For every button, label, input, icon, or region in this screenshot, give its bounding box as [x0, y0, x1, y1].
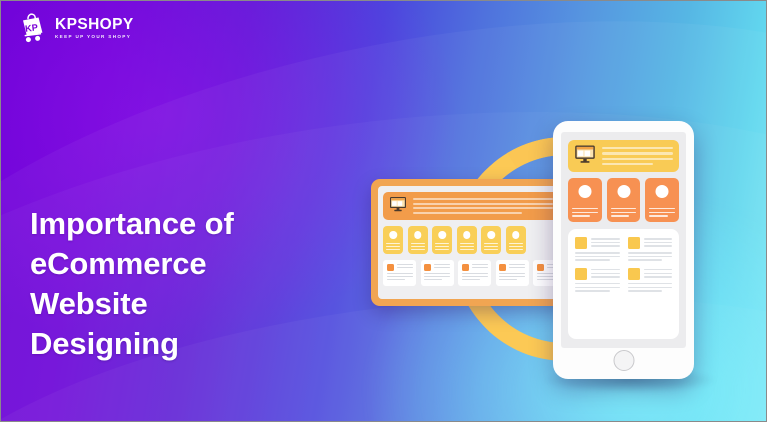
logo[interactable]: KP KPSHOPY KEEP UP YOUR SHOPY — [15, 10, 134, 46]
phone-tile[interactable] — [645, 178, 679, 222]
phone-product-item[interactable] — [628, 237, 673, 261]
desktop-tile[interactable] — [457, 226, 477, 254]
mobile-website-mockup — [553, 121, 694, 379]
svg-text:KP: KP — [25, 22, 39, 33]
tile-avatar — [578, 185, 591, 198]
desktop-tile[interactable] — [432, 226, 452, 254]
tile-avatar — [414, 231, 422, 239]
tile-avatar — [463, 231, 471, 239]
desktop-product-card[interactable] — [421, 260, 454, 286]
desktop-tile[interactable] — [383, 226, 403, 254]
page-title: Importance of eCommerce Website Designin… — [30, 204, 360, 364]
desktop-tile[interactable] — [506, 226, 526, 254]
product-thumbnail — [575, 237, 587, 249]
phone-product-grid — [575, 237, 672, 292]
phone-banner-text-lines — [602, 147, 673, 166]
phone-screen — [561, 132, 686, 348]
product-thumbnail — [499, 264, 506, 271]
tile-avatar — [438, 231, 446, 239]
product-thumbnail — [424, 264, 431, 271]
tile-avatar — [656, 185, 669, 198]
desktop-banner-text-lines — [413, 198, 553, 215]
desktop-tile[interactable] — [481, 226, 501, 254]
phone-product-item[interactable] — [575, 268, 620, 292]
product-thumbnail — [387, 264, 394, 271]
brand-tagline: KEEP UP YOUR SHOPY — [55, 35, 134, 40]
desktop-hero-banner — [383, 192, 559, 220]
promo-banner: KP KPSHOPY KEEP UP YOUR SHOPY Importance… — [0, 0, 767, 422]
headline-line-1: Importance of — [30, 204, 360, 244]
desktop-product-card[interactable] — [496, 260, 529, 286]
phone-tile[interactable] — [607, 178, 641, 222]
phone-product-item[interactable] — [628, 268, 673, 292]
product-thumbnail — [575, 268, 587, 280]
headline-line-3: Website — [30, 284, 360, 324]
desktop-website-mockup — [371, 179, 571, 306]
product-thumbnail — [628, 268, 640, 280]
phone-hero-banner — [568, 140, 679, 172]
desktop-product-cards — [383, 260, 559, 286]
product-thumbnail — [628, 237, 640, 249]
headline-line-4: Designing — [30, 324, 360, 364]
product-thumbnail — [537, 264, 544, 271]
desktop-product-card[interactable] — [458, 260, 491, 286]
phone-tile[interactable] — [568, 178, 602, 222]
tile-avatar — [389, 231, 397, 239]
headline-line-2: eCommerce — [30, 244, 360, 284]
home-button[interactable] — [613, 350, 634, 371]
monitor-icon — [574, 144, 596, 169]
desktop-tile[interactable] — [408, 226, 428, 254]
shopping-bag-cart-icon: KP — [15, 11, 49, 45]
phone-product-item[interactable] — [575, 237, 620, 261]
tile-avatar — [512, 231, 520, 239]
phone-category-tiles — [568, 178, 679, 222]
ecommerce-devices-illustration — [367, 105, 707, 405]
desktop-category-tiles — [383, 226, 559, 254]
desktop-product-card[interactable] — [383, 260, 416, 286]
brand-name: KPSHOPY — [55, 17, 134, 33]
desktop-screen — [378, 186, 564, 299]
phone-product-panel — [568, 229, 679, 339]
product-thumbnail — [462, 264, 469, 271]
tile-avatar — [617, 185, 630, 198]
tile-avatar — [487, 231, 495, 239]
monitor-icon — [389, 196, 407, 217]
